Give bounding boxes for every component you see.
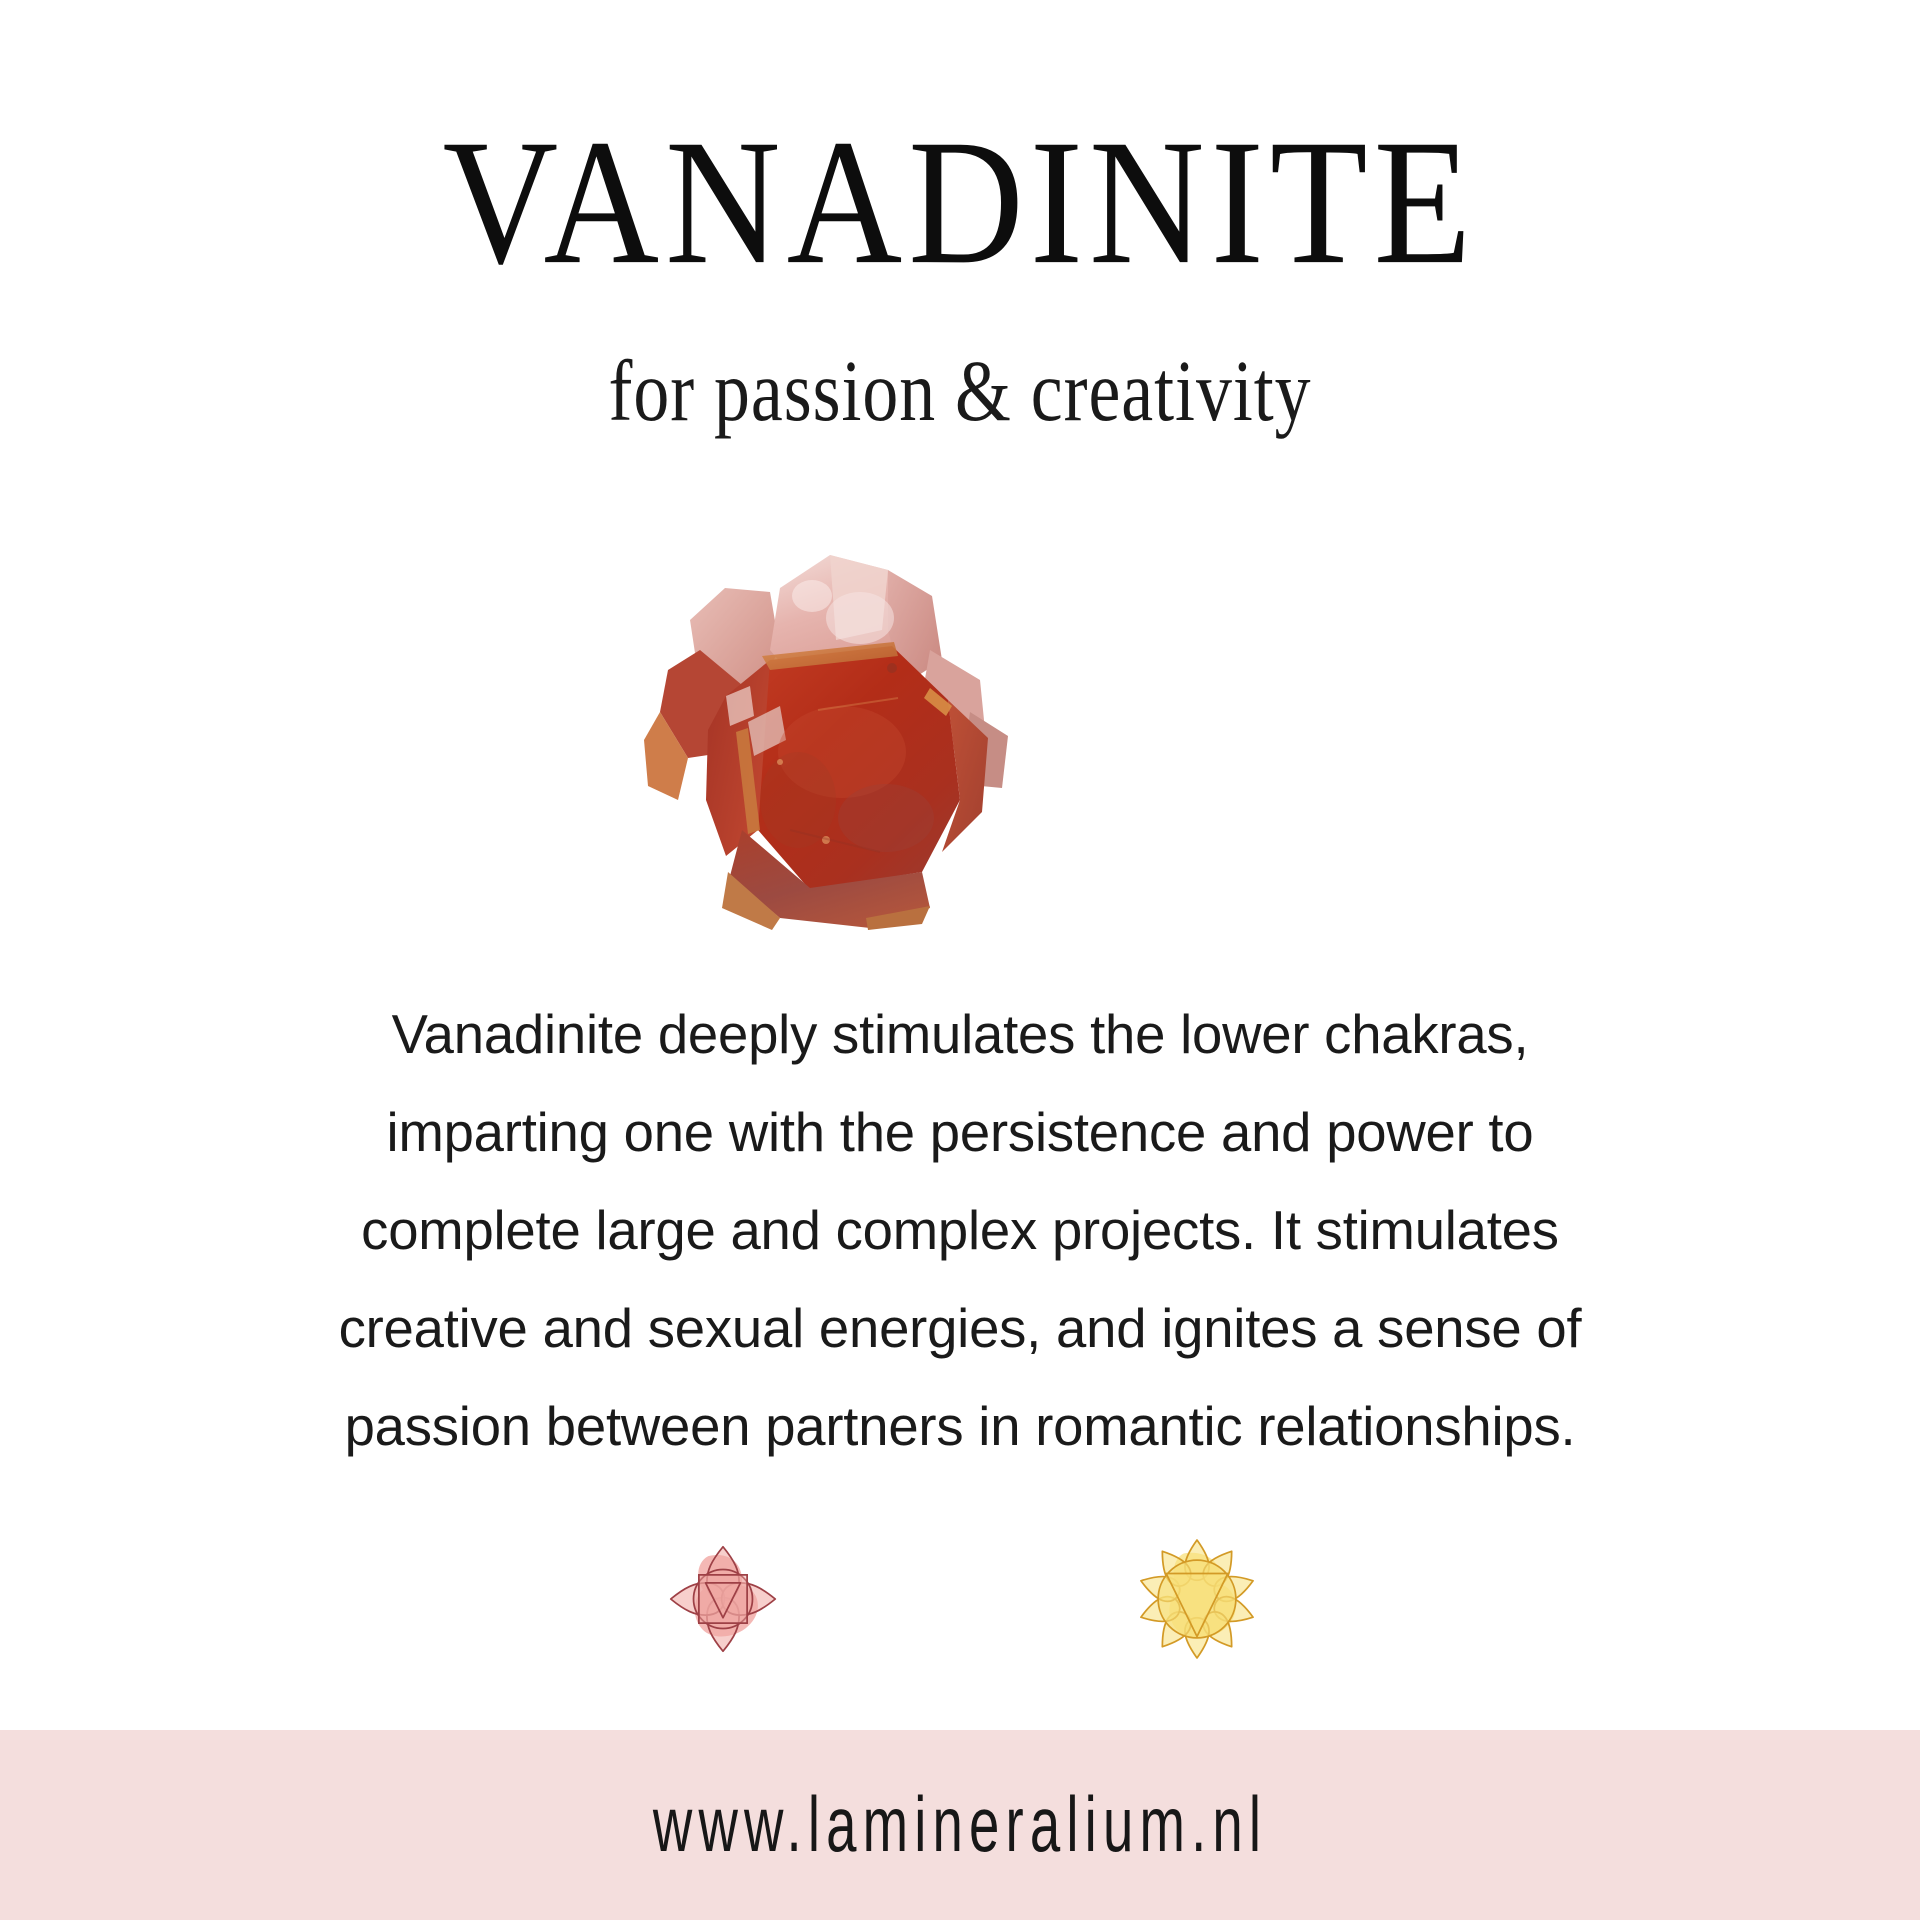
description-line: Vanadinite deeply stimulates the lower c…: [183, 985, 1737, 1083]
description-line: creative and sexual energies, and ignite…: [183, 1279, 1737, 1377]
description-line: imparting one with the persistence and p…: [183, 1083, 1737, 1181]
solar-plexus-chakra-icon: [1130, 1532, 1264, 1666]
website-url[interactable]: www.lamineralium.nl: [653, 1781, 1267, 1870]
vanadinite-crystal-image: [630, 500, 1030, 930]
description-line: passion between partners in romantic rel…: [183, 1377, 1737, 1475]
page-title: VANADINITE: [0, 112, 1920, 291]
crystal-info-card: VANADINITE for passion & creativity: [0, 0, 1920, 1920]
page-subtitle: for passion & creativity: [29, 348, 1891, 435]
description-paragraph: Vanadinite deeply stimulates the lower c…: [175, 985, 1745, 1475]
chakra-symbol-row: [0, 1532, 1920, 1666]
root-chakra-icon: [656, 1532, 790, 1666]
footer-bar: www.lamineralium.nl: [0, 1730, 1920, 1920]
description-line: complete large and complex projects. It …: [183, 1181, 1737, 1279]
